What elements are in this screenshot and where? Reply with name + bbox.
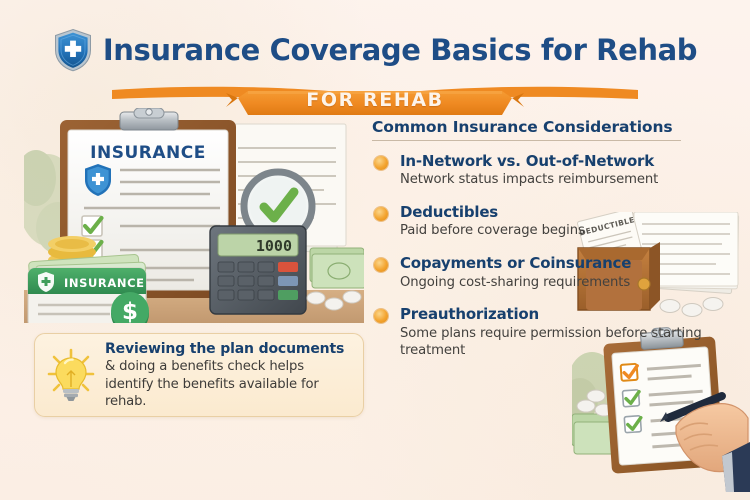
callout-rest-text: & doing a benefits check helps identify … xyxy=(105,359,319,409)
clipboard-document-title: INSURANCE xyxy=(90,143,206,163)
callout-text: Reviewing the plan documents & doing a b… xyxy=(105,340,351,411)
cash-stack-icon xyxy=(310,248,364,288)
svg-text:$: $ xyxy=(122,299,138,323)
list-item-desc: Some plans require permission before sta… xyxy=(400,326,744,360)
insurance-card-label: INSURANCE xyxy=(64,276,145,290)
calculator-display: 1000 xyxy=(256,237,292,255)
hand-icon xyxy=(676,404,750,492)
list-item-title: In-Network vs. Out-of-Network xyxy=(400,153,744,170)
bullet-dot-icon xyxy=(374,309,388,323)
calculator-icon: 1000 xyxy=(210,226,306,314)
title-row: Insurance Coverage Basics for Rehab xyxy=(0,26,750,74)
list-item[interactable]: Copayments or Coinsurance Ongoing cost-s… xyxy=(372,255,744,291)
list-item-desc: Ongoing cost-sharing requirements xyxy=(400,275,744,292)
callout-strong-text: Reviewing the plan documents xyxy=(105,341,344,357)
list-item[interactable]: In-Network vs. Out-of-Network Network st… xyxy=(372,153,744,189)
list-item-desc: Network status impacts reimbursement xyxy=(400,172,744,189)
lightbulb-icon xyxy=(45,347,97,403)
list-item-title: Preauthorization xyxy=(400,306,744,323)
list-item-title: Deductibles xyxy=(400,204,744,221)
header: Insurance Coverage Basics for Rehab xyxy=(0,26,750,118)
shield-cross-icon xyxy=(53,28,93,72)
tip-callout: Reviewing the plan documents & doing a b… xyxy=(34,333,364,417)
bullet-dot-icon xyxy=(374,156,388,170)
list-item[interactable]: Preauthorization Some plans require perm… xyxy=(372,306,744,359)
considerations-column: Common Insurance Considerations In-Netwo… xyxy=(372,118,744,359)
bullet-dot-icon xyxy=(374,258,388,272)
column-heading: Common Insurance Considerations xyxy=(372,118,681,141)
page-title: Insurance Coverage Basics for Rehab xyxy=(103,36,697,65)
list-item[interactable]: Deductibles Paid before coverage begins xyxy=(372,204,744,240)
bullet-dot-icon xyxy=(374,207,388,221)
list-item-desc: Paid before coverage begins xyxy=(400,223,744,240)
insurance-clipboard-illustration: INSURANCE xyxy=(24,108,364,328)
list-item-title: Copayments or Coinsurance xyxy=(400,255,744,272)
considerations-list: In-Network vs. Out-of-Network Network st… xyxy=(372,153,744,359)
infographic-canvas: Insurance Coverage Basics for Rehab xyxy=(0,0,750,500)
